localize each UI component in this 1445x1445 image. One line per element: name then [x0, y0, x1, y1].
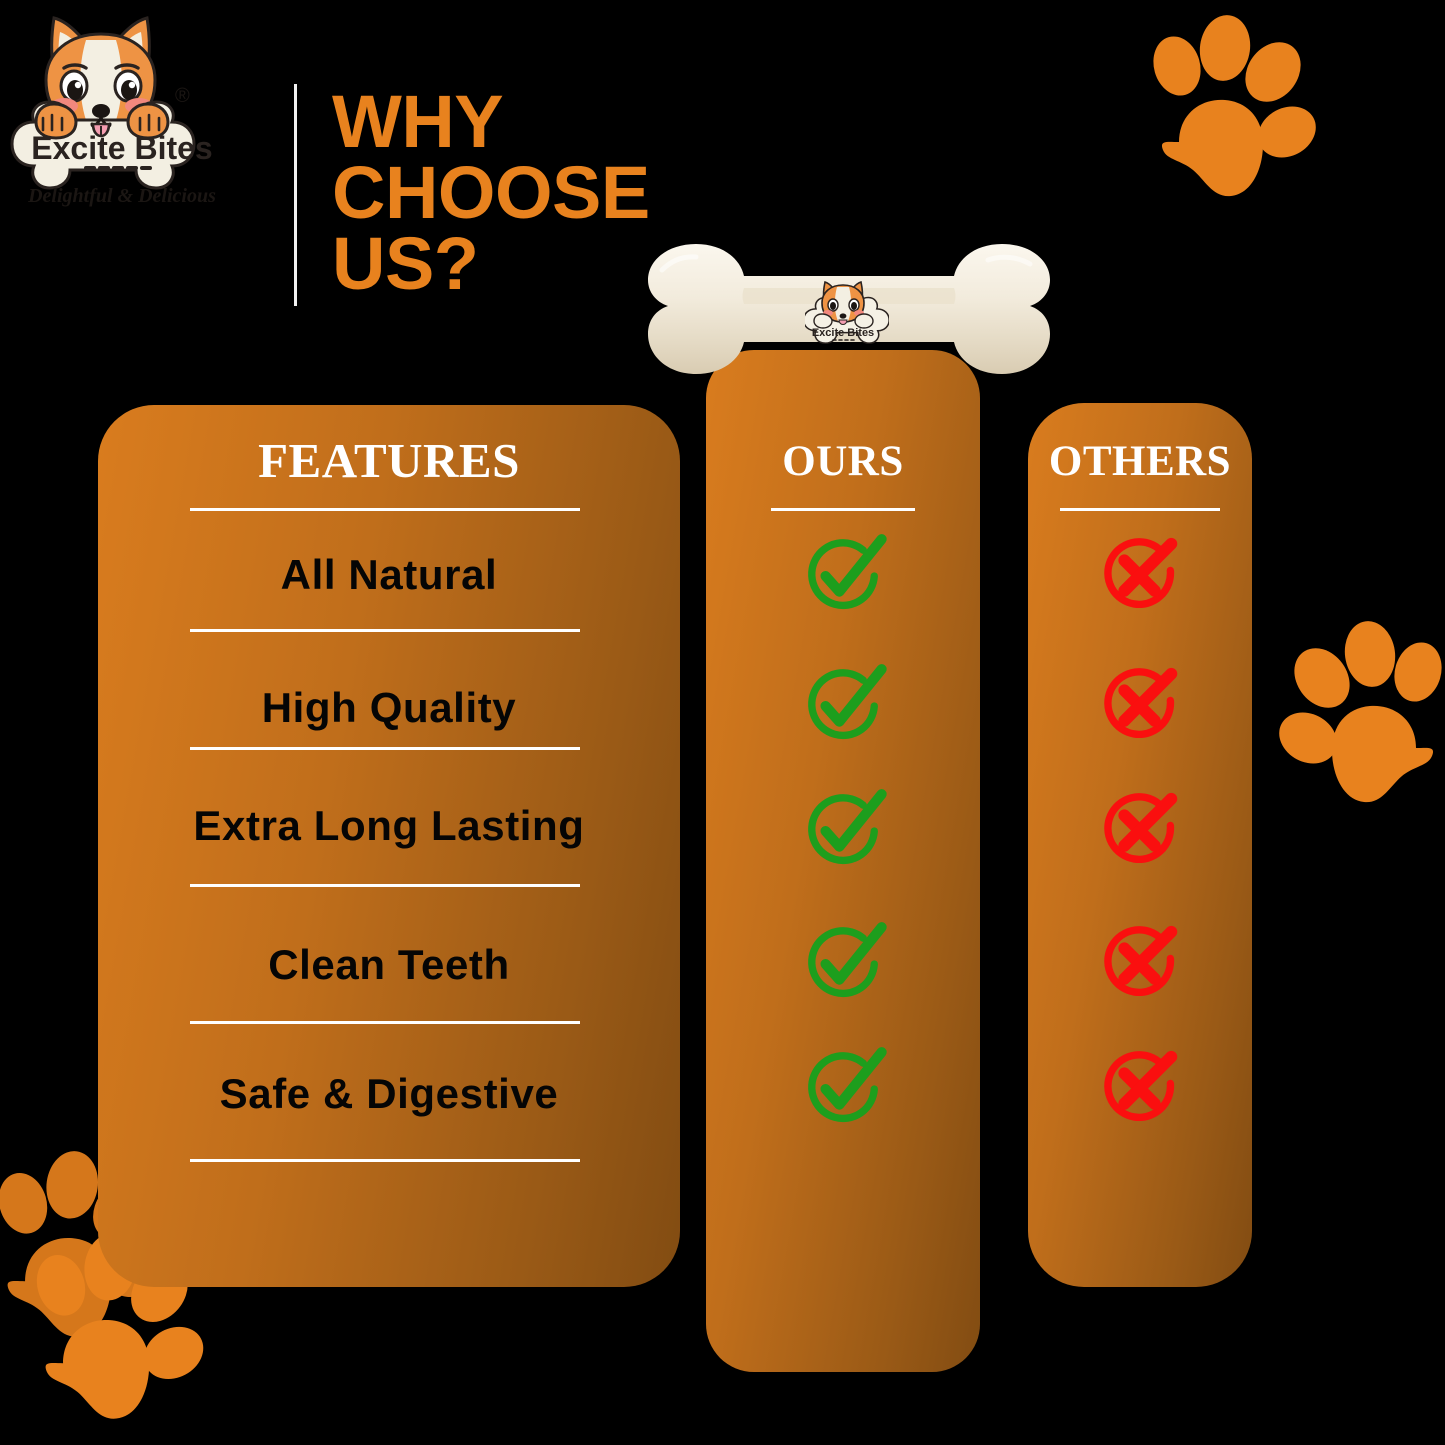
logo-wordmark: Excite Bites: [31, 130, 212, 166]
green-check-circle-icon: [797, 660, 889, 752]
green-check-circle-icon: [797, 530, 889, 622]
header-rule-features: [190, 508, 580, 511]
feature-divider: [190, 884, 580, 887]
green-check-circle-icon: [797, 785, 889, 877]
bone-brand-badge: Excite Bites: [805, 276, 889, 354]
corgi-dog-on-bone-logo: Excite Bites Delightful & Delicious ®: [8, 6, 236, 216]
feature-divider: [190, 1159, 580, 1162]
red-cross-circle-icon: [1094, 660, 1186, 752]
feature-label: Clean Teeth: [120, 941, 658, 989]
red-cross-circle-icon: [1094, 918, 1186, 1010]
feature-label: High Quality: [120, 684, 658, 732]
red-cross-circle-icon: [1094, 1043, 1186, 1135]
green-check-circle-icon: [797, 1043, 889, 1135]
infographic-canvas: Excite Bites Delightful & Delicious ® WH…: [0, 0, 1445, 1445]
feature-divider: [190, 747, 580, 750]
registered-trademark-icon: ®: [175, 85, 190, 107]
red-cross-circle-icon: [1094, 530, 1186, 622]
green-check-circle-icon: [797, 918, 889, 1010]
feature-label: All Natural: [120, 551, 658, 599]
column-header-features: FEATURES: [98, 432, 680, 489]
header-rule-others: [1060, 508, 1220, 511]
logo-tagline: Delightful & Delicious: [27, 185, 216, 207]
feature-label: Extra Long Lasting: [120, 802, 658, 850]
column-header-ours: OURS: [706, 437, 980, 486]
paw-print-icon: [1137, 14, 1337, 214]
badge-wordmark: Excite Bites: [812, 327, 874, 339]
brand-logo: Excite Bites Delightful & Delicious ®: [8, 6, 236, 216]
feature-divider: [190, 629, 580, 632]
header-rule-ours: [771, 508, 915, 511]
column-header-others: OTHERS: [1028, 437, 1252, 486]
red-cross-circle-icon: [1094, 785, 1186, 877]
feature-label: Safe & Digestive: [120, 1070, 658, 1118]
paw-print-icon: [1258, 620, 1445, 820]
header-divider: [294, 84, 297, 306]
feature-divider: [190, 1021, 580, 1024]
